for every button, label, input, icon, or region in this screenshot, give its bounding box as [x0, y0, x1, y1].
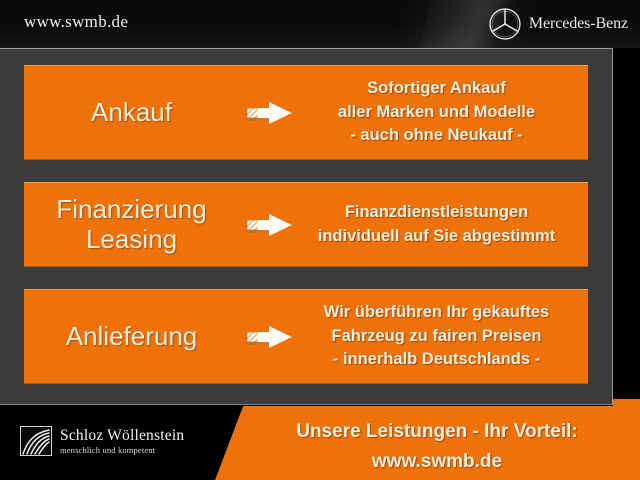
arrow-right-icon-glyph	[245, 323, 295, 351]
service-title: Ankauf	[24, 98, 239, 127]
mercedes-star-icon	[488, 7, 522, 41]
schloz-woellenstein-lines-icon	[20, 426, 52, 456]
footer-message: Unsere Leistungen - Ihr Vorteil: www.swm…	[246, 420, 628, 474]
mercedes-benz-wordmark: Mercedes-Benz	[529, 15, 628, 33]
footer-headline: Unsere Leistungen - Ihr Vorteil:	[246, 420, 628, 444]
dealer-tagline: menschlich und kompetent	[60, 446, 184, 455]
footer-site-url[interactable]: www.swmb.de	[246, 450, 628, 474]
service-bar-anlieferung[interactable]: Anlieferung Wir überführen Ihr gekauftes…	[24, 289, 588, 384]
footer-bar: Schloz Wöllenstein menschlich und kompet…	[0, 406, 640, 480]
service-description: Sofortiger Ankauf aller Marken und Model…	[301, 77, 588, 147]
dealer-name: Schloz Wöllenstein	[60, 428, 184, 444]
arrow-right-icon	[239, 99, 301, 127]
advertisement-banner: www.swmb.de Mercedes-Benz Ankauf	[0, 0, 640, 480]
arrow-right-icon-glyph	[245, 99, 295, 127]
arrow-right-icon-glyph	[245, 211, 295, 239]
arrow-right-icon	[239, 323, 301, 351]
dealer-logo[interactable]: Schloz Wöllenstein menschlich und kompet…	[20, 426, 184, 456]
service-title: Finanzierung Leasing	[24, 195, 239, 253]
header-bar: www.swmb.de Mercedes-Benz	[0, 0, 640, 48]
footer-orange-top-cap	[613, 399, 640, 407]
mercedes-benz-logo: Mercedes-Benz	[488, 7, 628, 41]
service-bar-ankauf[interactable]: Ankauf Sofortiger Ankauf aller Marken un…	[24, 65, 588, 160]
service-title: Anlieferung	[24, 322, 239, 351]
header-site-url: www.swmb.de	[24, 12, 128, 32]
service-bar-finanzierung-leasing[interactable]: Finanzierung Leasing Finanzdienstleistun…	[24, 182, 588, 267]
service-description: Wir überführen Ihr gekauftes Fahrzeug zu…	[301, 301, 588, 371]
service-description: Finanzdienstleistungen individuell auf S…	[301, 201, 588, 248]
arrow-right-icon	[239, 211, 301, 239]
dealer-text-block: Schloz Wöllenstein menschlich und kompet…	[60, 428, 184, 455]
